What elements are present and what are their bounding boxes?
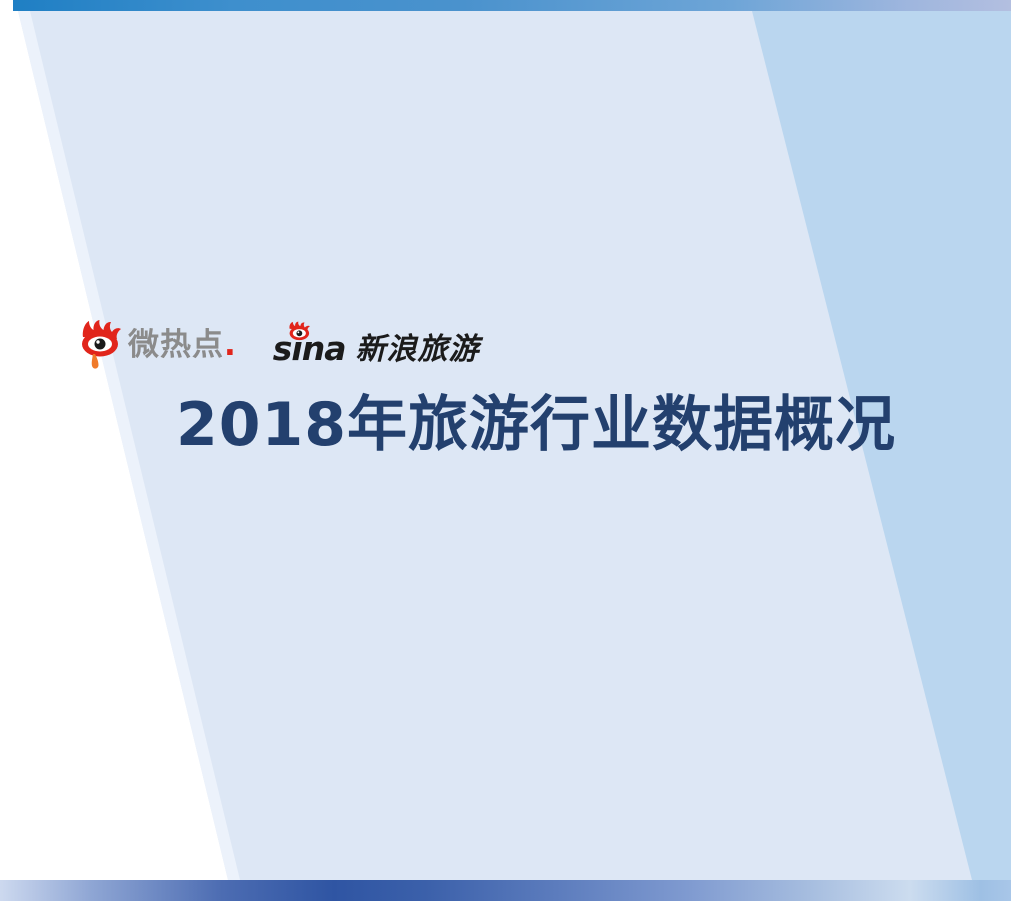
background-layer xyxy=(0,0,1011,920)
logo-row: 微热点. sina 新浪旅游 xyxy=(78,318,480,372)
logo-weibo-hotspot-label: 微热点. xyxy=(128,330,237,361)
logo-sina-chinese: 新浪旅游 xyxy=(356,335,480,365)
top-accent-bar xyxy=(13,0,1011,11)
page-title: 2018年旅游行业数据概况 xyxy=(176,392,896,459)
logo-weibo-hotspot: 微热点. xyxy=(78,320,237,370)
bottom-accent-bar xyxy=(0,880,1011,901)
weibo-eye-icon xyxy=(78,320,126,370)
logo-sina-travel: sina 新浪旅游 xyxy=(273,326,480,365)
title-slide: 微热点. sina 新浪旅游 2018年旅游行业数据概况 xyxy=(0,0,1011,920)
sina-eye-icon xyxy=(287,321,313,343)
logo-weibo-hotspot-dot: . xyxy=(224,327,237,363)
